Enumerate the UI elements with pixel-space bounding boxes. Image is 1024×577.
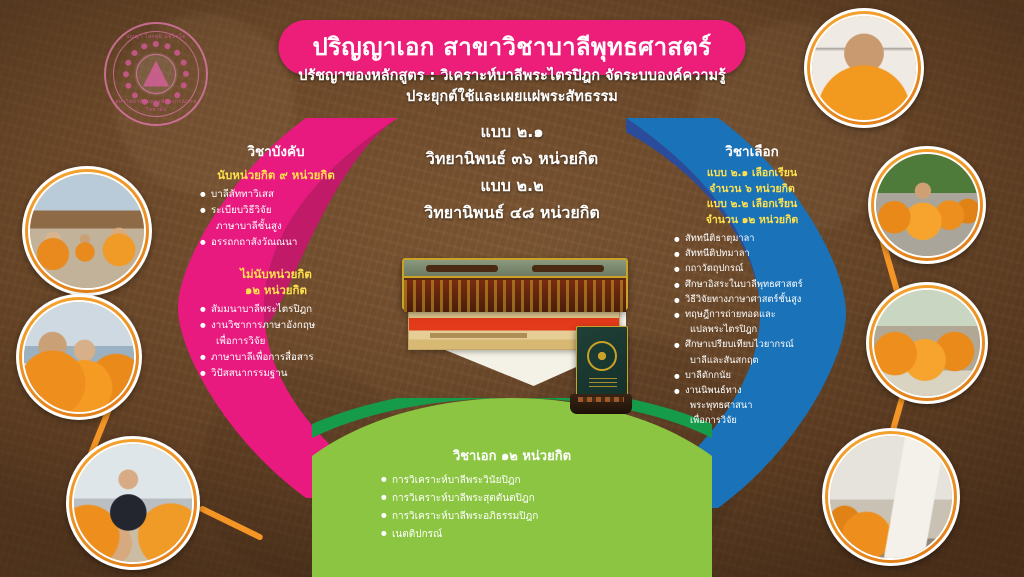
list-item: การวิเคราะห์บาลีพระสุตตันตปิฎก: [381, 490, 677, 507]
photo-ring: [825, 431, 957, 563]
required-group2: ไม่นับหน่วยกิต ๑๒ หน่วยกิต สัมมนาบาลีพระ…: [176, 266, 376, 381]
list-item: วิธีวิจัยทางภาษาศาสตร์ชั้นสูง: [674, 293, 852, 307]
manuscript-box-carving: [404, 280, 626, 312]
study-modes-block: แบบ ๒.๑ วิทยานิพนธ์ ๓๖ หน่วยกิต แบบ ๒.๒ …: [302, 118, 722, 226]
photo-ring: [69, 439, 197, 567]
major-courses-text: วิชาเอก ๑๒ หน่วยกิต การวิเคราะห์บาลีพระว…: [347, 445, 677, 544]
list-item: การวิเคราะห์บาลีพระวินัยปิฎก: [381, 472, 677, 489]
photo-abbot-portrait: [804, 8, 924, 128]
photo-frame: [22, 300, 136, 414]
list-item: บาลีตักกนัย: [674, 369, 852, 383]
list-item: สัททนีติธาตุมาลา: [674, 232, 852, 246]
photo-meeting-room: [22, 166, 152, 296]
connector-line-bottom-left: [198, 505, 264, 541]
list-item: อรรถกถาสังวัณณนา: [200, 235, 376, 250]
tripitaka-book: [576, 326, 628, 400]
seal-stupa-icon: [143, 60, 169, 86]
photo-frame: [828, 434, 954, 560]
seal-disc: ปญฺญา โลกสฺมิ ปชฺโชโต มหาวิทยาลัยมหาจุฬา…: [104, 22, 208, 126]
photo-image-monks-walking: [876, 154, 978, 256]
photo-classroom: [822, 428, 960, 566]
mode-2-1-label: แบบ ๒.๑: [302, 118, 722, 145]
list-item: แปลพระไตรปิฎก: [674, 323, 852, 337]
required-group2-heading-2: ๑๒ หน่วยกิต: [176, 282, 376, 298]
list-item: พระพุทธศาสนา: [674, 399, 852, 413]
list-item: สัมมนาบาลีพระไตรปิฎก: [200, 302, 376, 317]
list-item: วิปัสสนากรรมฐาน: [200, 366, 376, 381]
tripitaka-manuscript-artifact: [398, 238, 634, 418]
list-item: เพื่อการวิจัย: [200, 334, 376, 349]
mode-2-2-label: แบบ ๒.๒: [302, 172, 722, 199]
page-title: ปริญญาเอก สาขาวิชาบาลีพุทธศาสตร์: [313, 27, 712, 66]
photo-image-lecture-speaker: [74, 444, 192, 562]
seal-university-name: มหาวิทยาลัยมหาจุฬาลงกรณราชวิทยาลัย: [106, 98, 206, 114]
list-item: บาลีและสันสกฤต: [674, 354, 852, 368]
list-item: ศึกษาเปรียบเทียบไวยากรณ์: [674, 338, 852, 352]
required-group2-list: สัมมนาบาลีพระไตรปิฎก งานวิชาการภาษาอังกฤ…: [200, 302, 376, 381]
photo-ring: [871, 149, 983, 261]
major-heading: วิชาเอก ๑๒ หน่วยกิต: [347, 445, 677, 466]
photo-monks-laptop: [16, 294, 142, 420]
photo-frame: [872, 288, 982, 398]
required-group2-heading-1: ไม่นับหน่วยกิต: [176, 266, 376, 282]
manuscript-box: [402, 258, 628, 310]
list-item: สัททนีติปทมาลา: [674, 247, 852, 261]
photo-monks-walking: [868, 146, 986, 264]
list-item: การวิเคราะห์บาลีพระอภิธรรมปิฎก: [381, 508, 677, 525]
photo-ring: [19, 297, 139, 417]
photo-frame: [72, 442, 194, 564]
list-item: งานวิชาการภาษาอังกฤษ: [200, 318, 376, 333]
photo-alms-offering: [866, 282, 988, 404]
elective-list: สัททนีติธาตุมาลา สัททนีติปทมาลา กถาวัตถุ…: [674, 232, 852, 429]
photo-lecture-speaker: [66, 436, 200, 570]
university-seal: ปญฺญา โลกสฺมิ ปชฺโชโต มหาวิทยาลัยมหาจุฬา…: [104, 22, 208, 126]
photo-frame: [810, 14, 918, 122]
list-item: กถาวัตถุปกรณ์: [674, 262, 852, 276]
list-item: ศึกษาอิสระในบาลีพุทธศาสตร์: [674, 278, 852, 292]
photo-ring: [869, 285, 985, 401]
list-item: ทฤษฎีการถ่ายทอดและ: [674, 308, 852, 322]
photo-image-monks-laptop: [24, 302, 134, 412]
photo-image-meeting-room: [30, 174, 144, 288]
subtitle-line-1: ปรัชญาของหลักสูตร : วิเคราะห์บาลีพระไตรป…: [232, 66, 792, 87]
photo-ring: [807, 11, 921, 125]
book-stand: [570, 394, 632, 414]
subtitle-block: ปรัชญาของหลักสูตร : วิเคราะห์บาลีพระไตรป…: [232, 66, 792, 108]
list-item: เนตติปกรณ์: [381, 526, 677, 543]
photo-image-alms-offering: [874, 290, 980, 396]
seal-motto-text: ปญฺญา โลกสฺมิ ปชฺโชโต: [106, 33, 206, 41]
mode-2-2-credits: วิทยานิพนธ์ ๔๘ หน่วยกิต: [302, 199, 722, 226]
photo-frame: [28, 172, 146, 290]
photo-ring: [25, 169, 149, 293]
list-item: ภาษาบาลีเพื่อการสื่อสาร: [200, 350, 376, 365]
photo-image-abbot-portrait: [812, 16, 916, 120]
photo-image-classroom: [830, 436, 952, 558]
manuscript-box-lid: [404, 260, 626, 278]
list-item: งานนิพนธ์ทาง: [674, 384, 852, 398]
mode-2-1-credits: วิทยานิพนธ์ ๓๖ หน่วยกิต: [302, 145, 722, 172]
subtitle-line-2: ประยุกต์ใช้และเผยแผ่พระสัทธรรม: [232, 87, 792, 108]
photo-frame: [874, 152, 980, 258]
poster-root: ปญฺญา โลกสฺมิ ปชฺโชโต มหาวิทยาลัยมหาจุฬา…: [0, 0, 1024, 577]
major-list: การวิเคราะห์บาลีพระวินัยปิฎก การวิเคราะห…: [381, 472, 677, 543]
list-item: เพื่อการวิจัย: [674, 414, 852, 428]
